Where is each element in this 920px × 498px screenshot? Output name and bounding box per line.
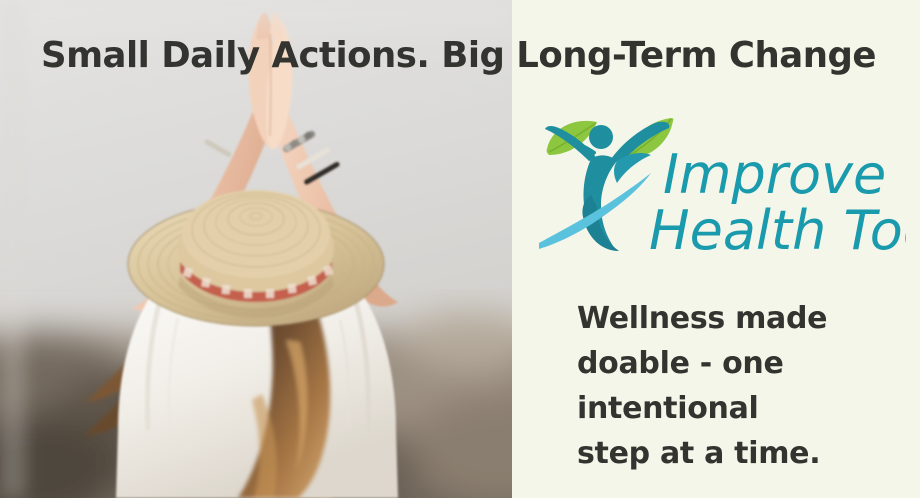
logo-line-2: Health Today (649, 199, 906, 261)
tagline-line-1: Wellness made (577, 296, 907, 341)
brand-logo[interactable]: Improve Your Health Today (531, 103, 906, 261)
logo-line-1: Improve Your (663, 143, 906, 206)
promo-banner: Small Daily Actions. Big Long-Term Chang… (0, 0, 920, 498)
tagline-line-3: intentional (577, 386, 907, 431)
tagline-line-2: doable - one (577, 341, 907, 386)
logo-artwork: Improve Your Health Today (531, 103, 906, 261)
tagline-line-4: step at a time. (577, 431, 907, 476)
page-title: Small Daily Actions. Big Long-Term Chang… (41, 33, 881, 79)
tagline: Wellness made doable - one intentional s… (577, 296, 907, 476)
